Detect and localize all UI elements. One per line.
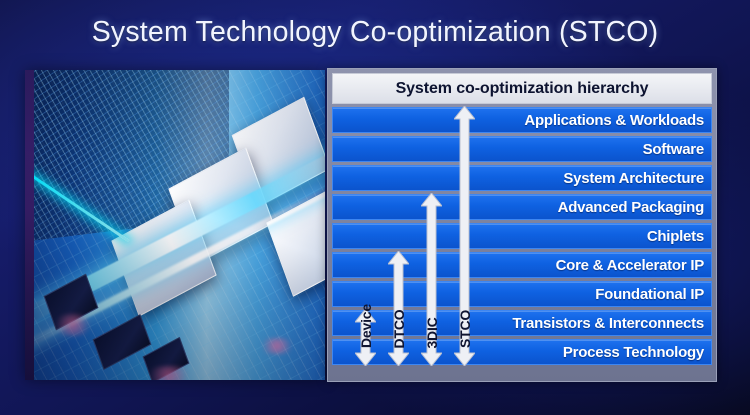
hierarchy-layer-label: Foundational IP	[595, 286, 711, 303]
hierarchy-layer-label: Software	[643, 141, 711, 158]
page-title: System Technology Co-optimization (STCO)	[0, 16, 750, 49]
co-optimization-hierarchy-panel: System co-optimization hierarchy Applica…	[327, 68, 717, 382]
hierarchy-layer-row[interactable]: Core & Accelerator IP	[332, 252, 712, 278]
hierarchy-layer-label: Chiplets	[647, 228, 711, 245]
semiconductor-chip-render	[25, 70, 325, 380]
hierarchy-layer-row[interactable]: Chiplets	[332, 223, 712, 249]
slide-canvas: System Technology Co-optimization (STCO)…	[0, 0, 750, 415]
hierarchy-layer-row[interactable]: Advanced Packaging	[332, 194, 712, 220]
hierarchy-layer-label: Core & Accelerator IP	[556, 257, 711, 274]
hierarchy-layer-row[interactable]: Transistors & Interconnects	[332, 310, 712, 336]
hierarchy-layer-label: Process Technology	[563, 344, 711, 361]
hierarchy-layer-row[interactable]: System Architecture	[332, 165, 712, 191]
hierarchy-layer-row[interactable]: Foundational IP	[332, 281, 712, 307]
photo-vignette	[25, 70, 325, 380]
hierarchy-layer-label: Transistors & Interconnects	[512, 315, 711, 332]
hierarchy-layer-row[interactable]: Applications & Workloads	[332, 107, 712, 133]
hierarchy-header: System co-optimization hierarchy	[332, 73, 712, 104]
hierarchy-layer-list: Applications & WorkloadsSoftwareSystem A…	[332, 107, 712, 368]
hierarchy-layer-label: System Architecture	[563, 170, 711, 187]
hierarchy-layer-row[interactable]: Process Technology	[332, 339, 712, 365]
hierarchy-layer-label: Advanced Packaging	[558, 199, 711, 216]
hierarchy-layer-row[interactable]: Software	[332, 136, 712, 162]
hierarchy-layer-label: Applications & Workloads	[524, 112, 711, 129]
